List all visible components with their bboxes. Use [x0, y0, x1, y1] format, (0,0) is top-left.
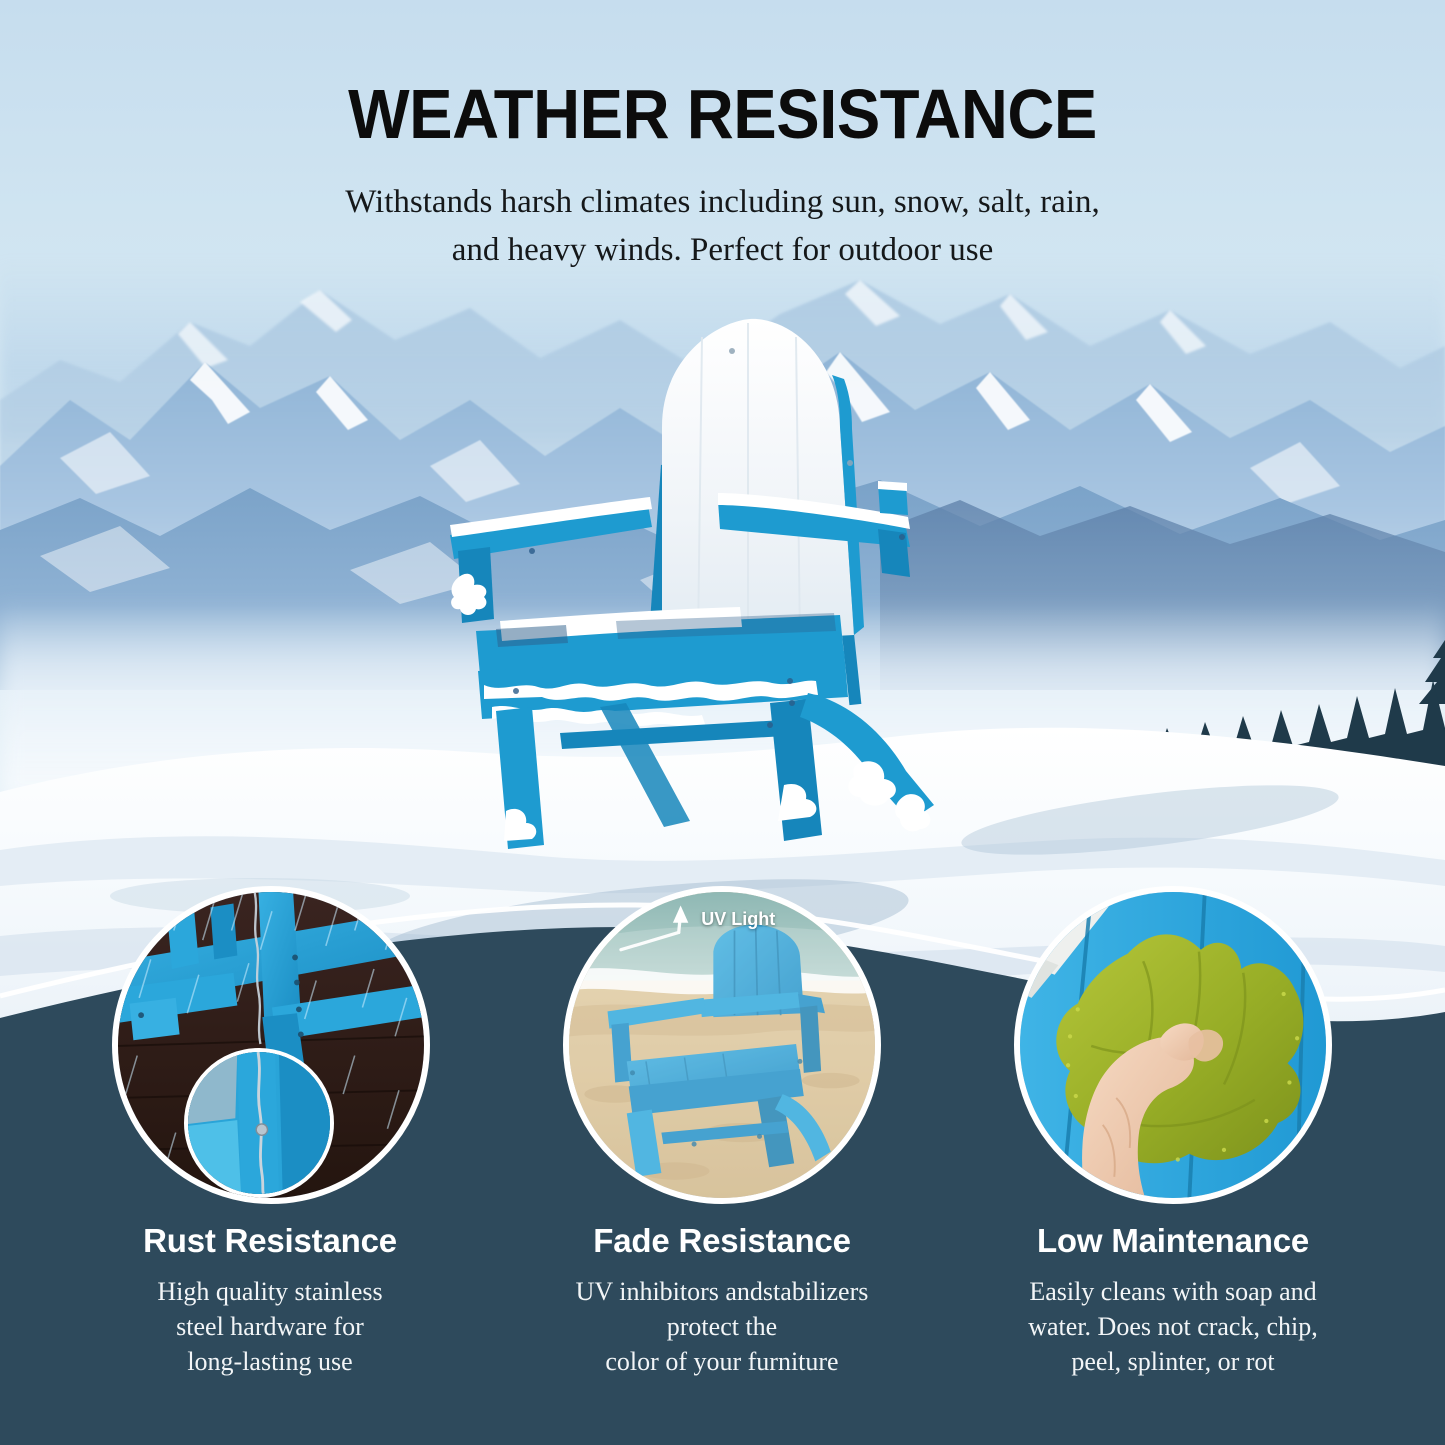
hero-chair-image [440, 315, 960, 860]
feature-desc-rust-resistance: High quality stainless steel hardware fo… [60, 1274, 480, 1379]
features-text-row: Rust Resistance High quality stainless s… [0, 1222, 1445, 1422]
feature-title-low-maintenance: Low Maintenance [963, 1222, 1383, 1260]
page-title: WEATHER RESISTANCE [51, 74, 1395, 154]
subtitle-line-2: and heavy winds. Perfect for outdoor use [0, 226, 1445, 274]
feature-block-fade-resistance: Fade Resistance UV inhibitors andstabili… [512, 1222, 932, 1379]
feature-title-rust-resistance: Rust Resistance [60, 1222, 480, 1260]
page-subtitle: Withstands harsh climates including sun,… [0, 178, 1445, 274]
feature-image-low-maintenance [1014, 886, 1332, 1204]
feature-block-low-maintenance: Low Maintenance Easily cleans with soap … [963, 1222, 1383, 1379]
feature-block-rust-resistance: Rust Resistance High quality stainless s… [60, 1222, 480, 1379]
rust-inset-magnifier [184, 1048, 334, 1198]
feature-desc-line-2: protect the [667, 1312, 777, 1341]
feature-desc-line-3: long-lasting use [187, 1347, 352, 1376]
feature-image-rust-resistance [112, 886, 430, 1204]
feature-desc-line-2: steel hardware for [176, 1312, 364, 1341]
feature-desc-line-3: color of your furniture [605, 1347, 838, 1376]
feature-desc-low-maintenance: Easily cleans with soap and water. Does … [963, 1274, 1383, 1379]
feature-desc-line-1: UV inhibitors andstabilizers [576, 1277, 869, 1306]
feature-desc-line-3: peel, splinter, or rot [1071, 1347, 1274, 1376]
feature-image-fade-resistance: UV Light [563, 886, 881, 1204]
feature-desc-line-1: Easily cleans with soap and [1029, 1277, 1316, 1306]
uv-light-label: UV Light [701, 909, 775, 930]
feature-desc-line-2: water. Does not crack, chip, [1028, 1312, 1318, 1341]
feature-desc-fade-resistance: UV inhibitors andstabilizers protect the… [512, 1274, 932, 1379]
feature-desc-line-1: High quality stainless [157, 1277, 382, 1306]
subtitle-line-1: Withstands harsh climates including sun,… [0, 178, 1445, 226]
feature-title-fade-resistance: Fade Resistance [512, 1222, 932, 1260]
infographic-root: WEATHER RESISTANCE Withstands harsh clim… [0, 0, 1445, 1445]
